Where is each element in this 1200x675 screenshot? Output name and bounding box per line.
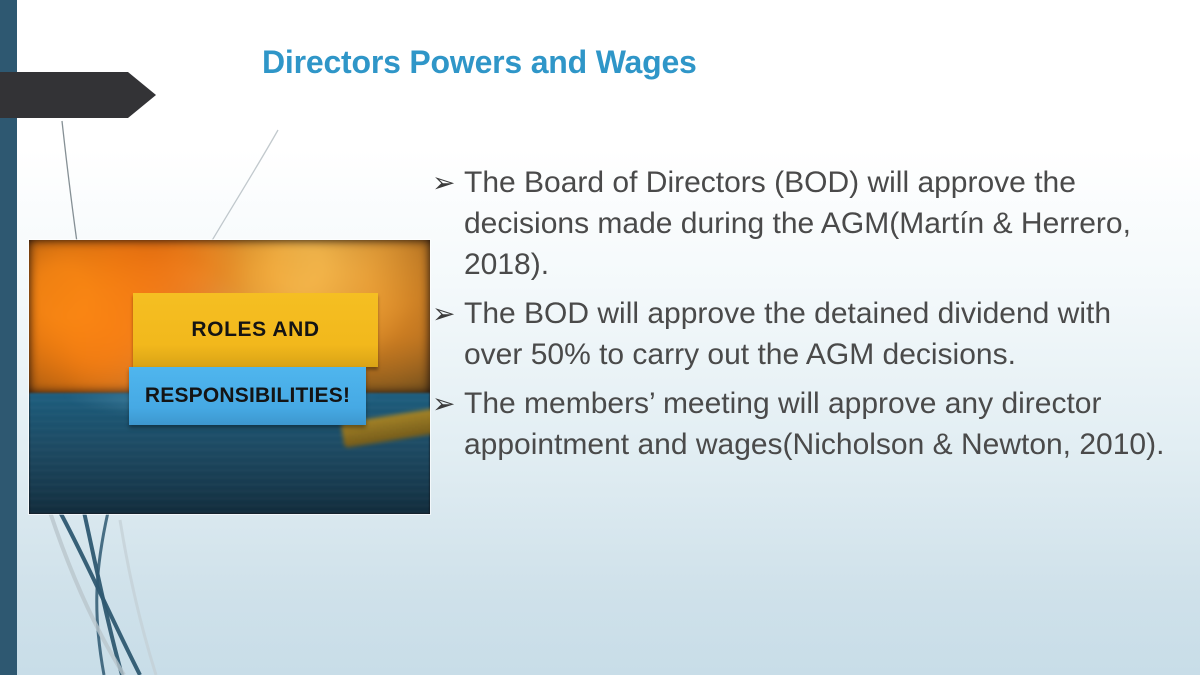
bullet-list: ➢ The Board of Directors (BOD) will appr…: [432, 162, 1174, 473]
slide-canvas: Directors Powers and Wages ROLES AND RES…: [0, 0, 1200, 675]
sticky-note-blue: RESPONSIBILITIES!: [129, 367, 366, 425]
bullet-item: ➢ The Board of Directors (BOD) will appr…: [432, 162, 1174, 285]
arrowhead-bullet-icon: ➢: [432, 293, 464, 334]
bullet-text: The members’ meeting will approve any di…: [464, 383, 1174, 465]
arrowhead-bullet-icon: ➢: [432, 383, 464, 424]
arrow-banner-shape: [0, 72, 156, 118]
roles-and-responsibilities-photo: ROLES AND RESPONSIBILITIES!: [29, 240, 430, 514]
bullet-text: The Board of Directors (BOD) will approv…: [464, 162, 1174, 285]
page-title: Directors Powers and Wages: [262, 41, 1022, 83]
sticky-note-yellow: ROLES AND: [133, 293, 378, 367]
bullet-item: ➢ The members’ meeting will approve any …: [432, 383, 1174, 465]
arrowhead-bullet-icon: ➢: [432, 162, 464, 203]
bullet-item: ➢ The BOD will approve the detained divi…: [432, 293, 1174, 375]
left-accent-bar-top: [0, 0, 17, 74]
left-accent-bar: [0, 118, 17, 675]
bullet-text: The BOD will approve the detained divide…: [464, 293, 1174, 375]
